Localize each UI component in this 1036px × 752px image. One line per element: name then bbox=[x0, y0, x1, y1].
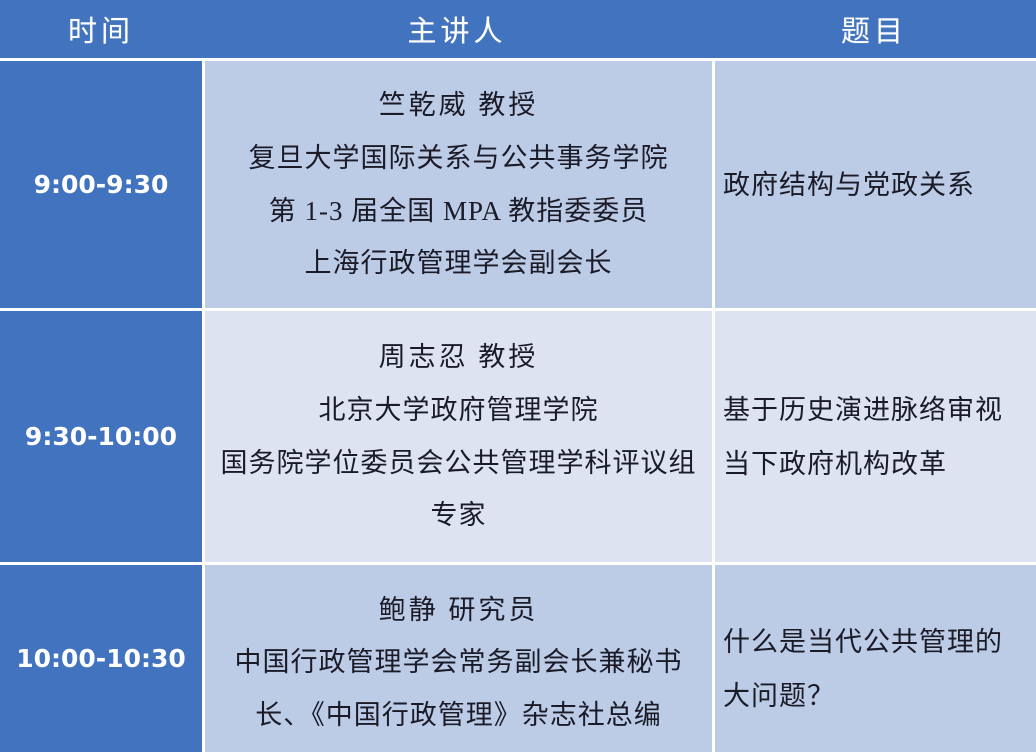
cell-speaker: 鲍静 研究员 中国行政管理学会常务副会长兼秘书长、《中国行政管理》杂志社总编 bbox=[202, 562, 712, 752]
cell-topic: 基于历史演进脉络审视当下政府机构改革 bbox=[712, 308, 1036, 562]
speaker-affiliation-line: 北京大学政府管理学院 bbox=[207, 384, 710, 437]
cell-topic: 政府结构与党政关系 bbox=[712, 58, 1036, 308]
cell-time: 10:00-10:30 bbox=[0, 562, 202, 752]
table-row: 9:00-9:30 竺乾威 教授 复旦大学国际关系与公共事务学院 第 1-3 届… bbox=[0, 58, 1036, 308]
cell-topic: 什么是当代公共管理的大问题？ bbox=[712, 562, 1036, 752]
column-header-speaker: 主讲人 bbox=[202, 0, 712, 58]
cell-time: 9:00-9:30 bbox=[0, 58, 202, 308]
speaker-affiliation-line: 中国行政管理学会常务副会长兼秘书长、《中国行政管理》杂志社总编 bbox=[207, 636, 710, 741]
speaker-affiliation-line: 复旦大学国际关系与公共事务学院 bbox=[207, 132, 710, 185]
speaker-name: 鲍静 研究员 bbox=[207, 584, 710, 637]
schedule-table: 时间 主讲人 题目 9:00-9:30 竺乾威 教授 复旦大学国际关系与公共事务… bbox=[0, 0, 1036, 752]
table-row: 9:30-10:00 周志忍 教授 北京大学政府管理学院 国务院学位委员会公共管… bbox=[0, 308, 1036, 562]
speaker-name: 周志忍 教授 bbox=[207, 331, 710, 384]
speaker-affiliation-line: 国务院学位委员会公共管理学科评议组专家 bbox=[207, 437, 710, 542]
speaker-affiliation-line: 上海行政管理学会副会长 bbox=[207, 237, 710, 290]
topic-text: 什么是当代公共管理的大问题？ bbox=[723, 615, 1028, 723]
column-header-topic: 题目 bbox=[712, 0, 1036, 58]
topic-text: 基于历史演进脉络审视当下政府机构改革 bbox=[723, 383, 1028, 491]
speaker-affiliation-line: 第 1-3 届全国 MPA 教指委委员 bbox=[207, 185, 710, 238]
cell-speaker: 周志忍 教授 北京大学政府管理学院 国务院学位委员会公共管理学科评议组专家 bbox=[202, 308, 712, 562]
column-header-time: 时间 bbox=[0, 0, 202, 58]
cell-time: 9:30-10:00 bbox=[0, 308, 202, 562]
table-header-row: 时间 主讲人 题目 bbox=[0, 0, 1036, 58]
speaker-name: 竺乾威 教授 bbox=[207, 79, 710, 132]
table-row: 10:00-10:30 鲍静 研究员 中国行政管理学会常务副会长兼秘书长、《中国… bbox=[0, 562, 1036, 752]
cell-speaker: 竺乾威 教授 复旦大学国际关系与公共事务学院 第 1-3 届全国 MPA 教指委… bbox=[202, 58, 712, 308]
topic-text: 政府结构与党政关系 bbox=[723, 158, 1028, 212]
